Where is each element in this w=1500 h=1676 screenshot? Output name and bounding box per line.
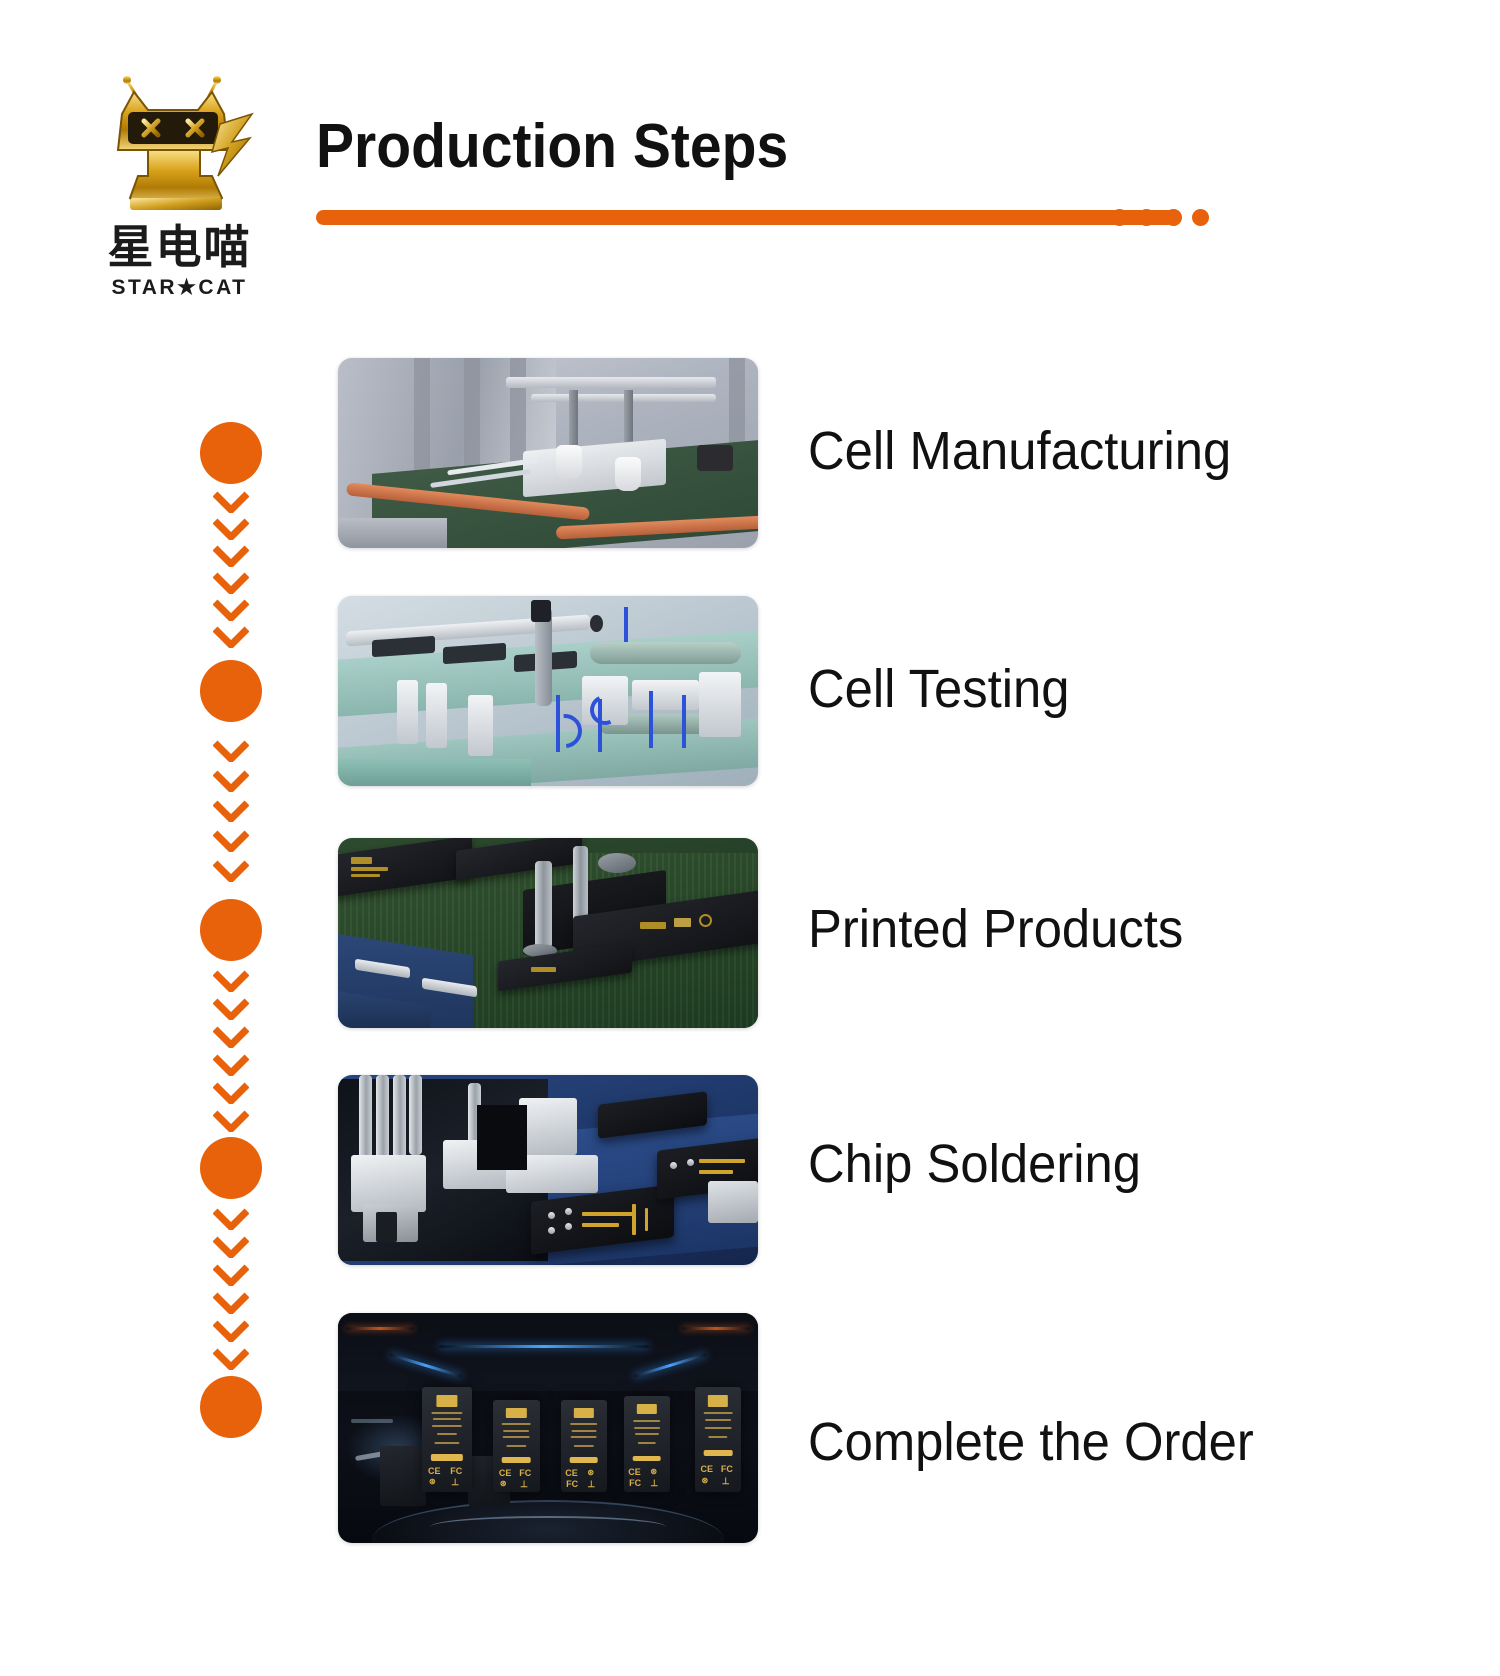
chevron-down-icon: [213, 830, 249, 852]
timeline-node-5: [200, 1376, 262, 1438]
brand-name-cn: 星电喵: [92, 224, 267, 270]
brand-name-en: STAR★CAT: [92, 277, 267, 298]
timeline-node-2: [200, 660, 262, 722]
complete-the-order-photo[interactable]: CE FC ⊛ ⊥ CE FC ⊛ ⊥: [338, 1313, 758, 1543]
timeline-node-1: [200, 422, 262, 484]
header-divider: [316, 206, 1216, 232]
step-label: Printed Products: [808, 898, 1183, 960]
step-label: Cell Manufacturing: [808, 420, 1231, 482]
chevron-down-icon: [213, 1292, 249, 1314]
step-row: Cell Testing: [338, 596, 1398, 791]
chevron-down-icon: [213, 1026, 249, 1048]
step-row: Cell Manufacturing: [338, 358, 1398, 553]
chevron-down-icon: [213, 1320, 249, 1342]
chevron-down-icon: [213, 740, 249, 762]
brand-logo: 星电喵 STAR★CAT: [92, 72, 267, 297]
product-battery: CE ⊛ FC ⊥: [561, 1400, 607, 1492]
chevron-down-icon: [213, 572, 249, 594]
chevron-down-icon: [213, 1054, 249, 1076]
product-battery: CE FC ⊛ ⊥: [422, 1387, 472, 1493]
divider-dot-1: [1111, 209, 1128, 226]
chevron-down-icon: [213, 1348, 249, 1370]
chevron-down-icon: [213, 770, 249, 792]
chevron-down-icon: [213, 800, 249, 822]
chevron-down-icon: [213, 1110, 249, 1132]
step-row: CE FC ⊛ ⊥ CE FC ⊛ ⊥: [338, 1313, 1398, 1543]
product-battery: CE FC ⊛ ⊥: [493, 1400, 539, 1492]
chevron-down-icon: [213, 1208, 249, 1230]
printed-products-photo[interactable]: [338, 838, 758, 1028]
chevron-down-icon: [213, 545, 249, 567]
cell-manufacturing-photo[interactable]: [338, 358, 758, 548]
page-title: Production Steps: [316, 116, 788, 178]
step-label: Chip Soldering: [808, 1133, 1141, 1195]
chevron-down-icon: [213, 518, 249, 540]
product-battery: CE FC ⊛ ⊥: [695, 1387, 741, 1493]
divider-bar: [316, 210, 1176, 225]
page-header: 星电喵 STAR★CAT Production Steps: [0, 0, 1500, 330]
chip-soldering-photo[interactable]: [338, 1075, 758, 1265]
chevron-down-icon: [213, 1082, 249, 1104]
divider-dot-3: [1165, 209, 1182, 226]
timeline-node-3: [200, 899, 262, 961]
chevron-down-icon: [213, 860, 249, 882]
chevron-down-icon: [213, 491, 249, 513]
chevron-down-icon: [213, 998, 249, 1020]
timeline-node-4: [200, 1137, 262, 1199]
product-battery: CE ⊛ FC ⊥: [624, 1396, 670, 1493]
step-label: Cell Testing: [808, 658, 1069, 720]
step-row: Chip Soldering: [338, 1075, 1398, 1265]
chevron-down-icon: [213, 626, 249, 648]
chevron-down-icon: [213, 599, 249, 621]
cell-testing-photo[interactable]: [338, 596, 758, 786]
process-timeline: [200, 350, 290, 1480]
divider-dot-4: [1192, 209, 1209, 226]
chevron-down-icon: [213, 970, 249, 992]
chevron-down-icon: [213, 1264, 249, 1286]
star-cat-robot-logo-icon: [100, 72, 260, 220]
divider-dot-2: [1138, 209, 1155, 226]
chevron-down-icon: [213, 1236, 249, 1258]
step-label: Complete the Order: [808, 1411, 1254, 1473]
step-row: Printed Products: [338, 838, 1398, 1028]
